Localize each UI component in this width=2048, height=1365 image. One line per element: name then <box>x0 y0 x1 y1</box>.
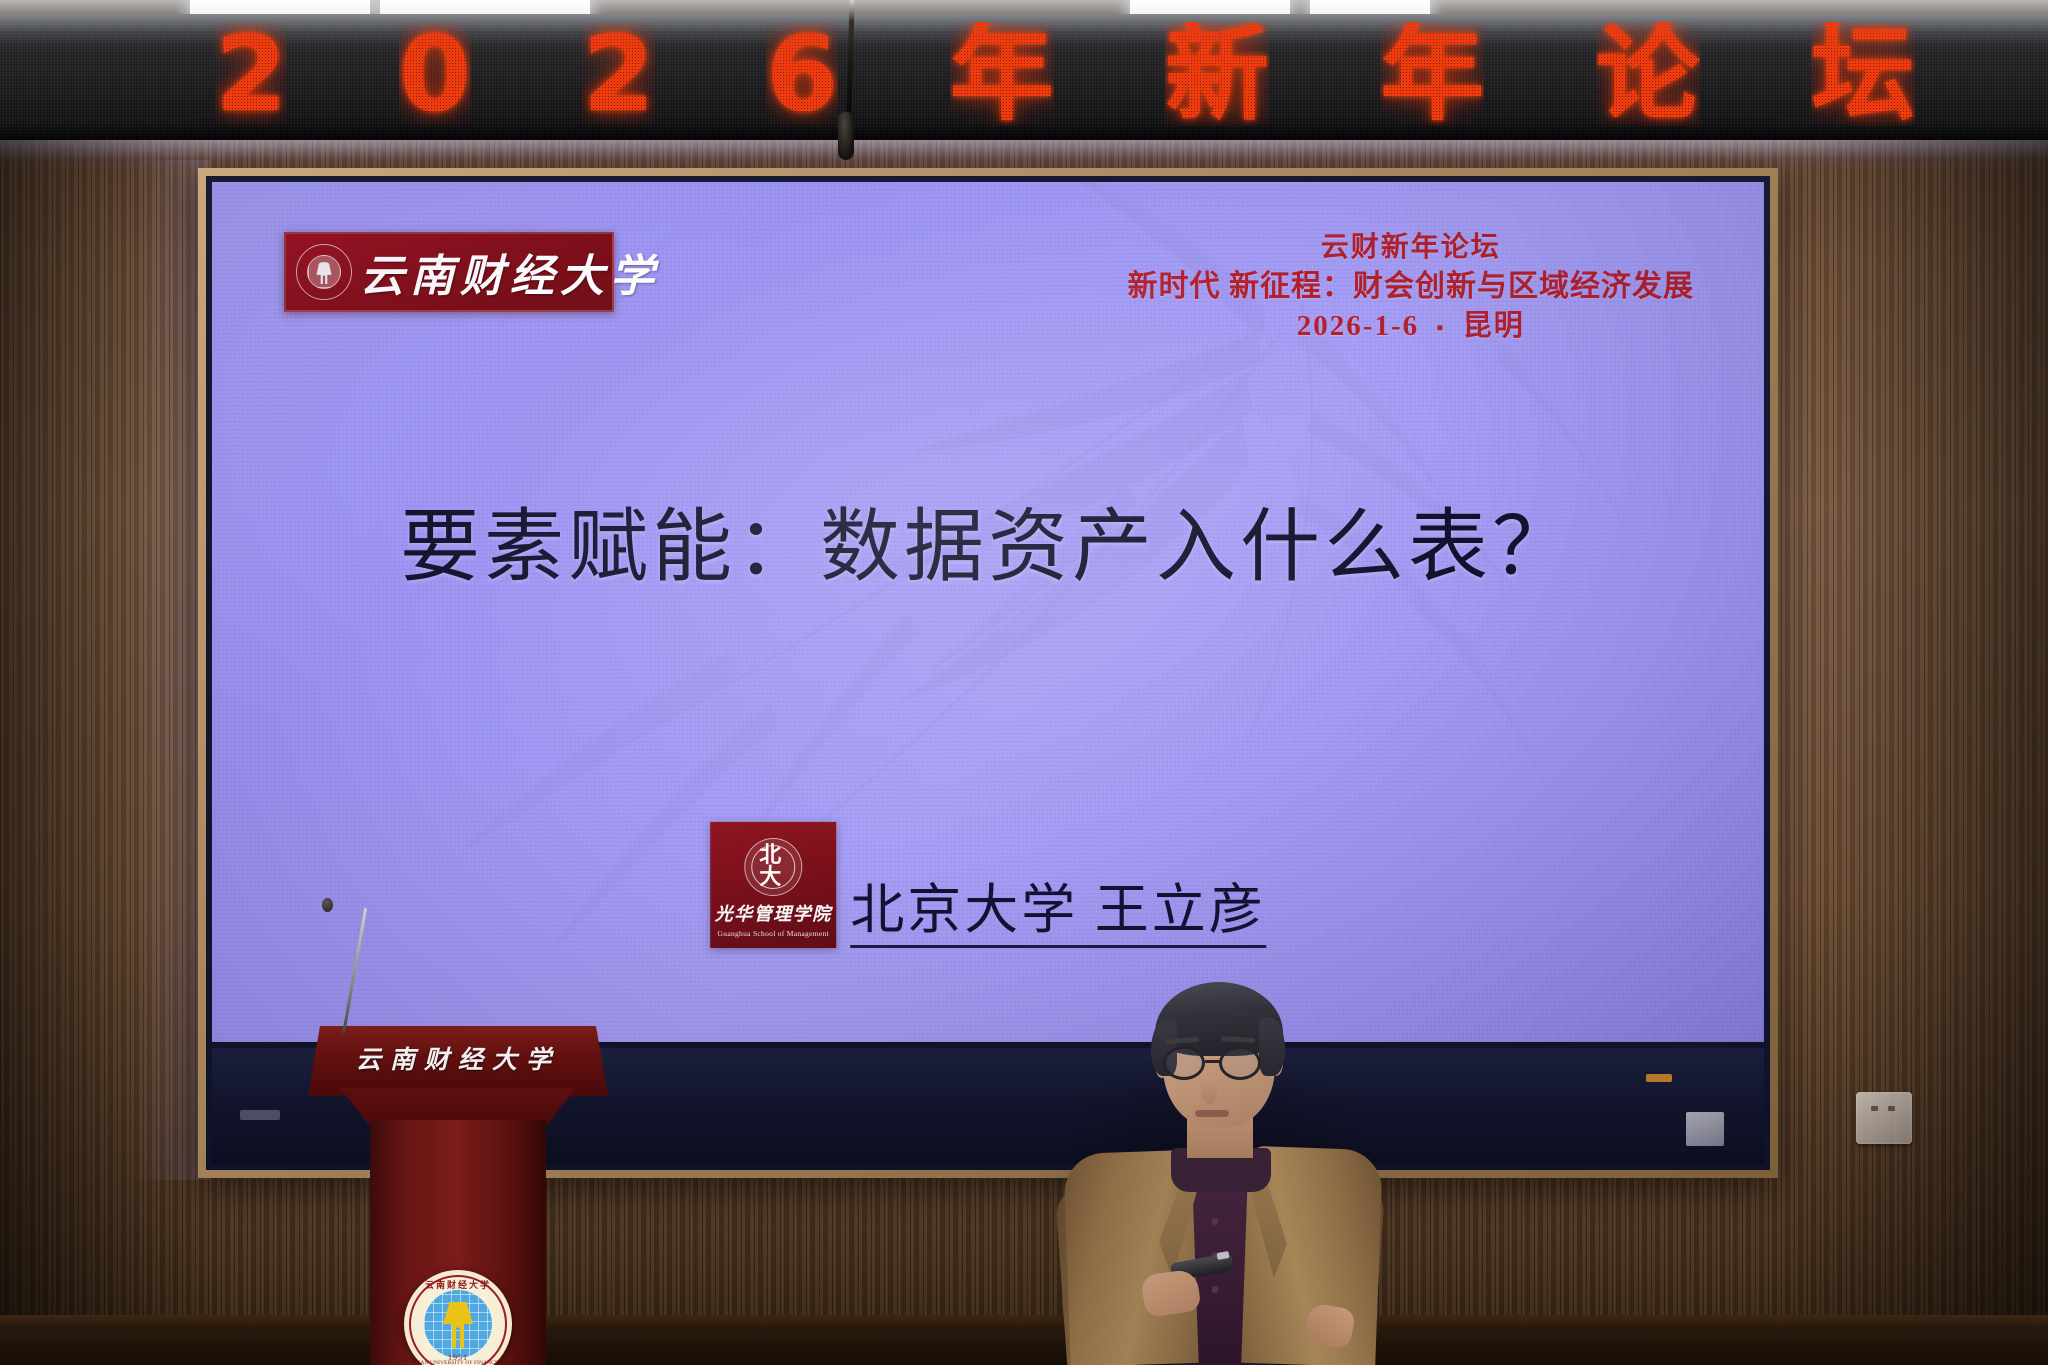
slide-title: 要素赋能：数据资产入什么表？ <box>212 482 1764 598</box>
presenter-row: 北大 光华管理学院 Guanghua School of Management … <box>710 822 1266 948</box>
screen-brand-label <box>240 1110 280 1120</box>
podium-university-name: 云南财经大学 <box>308 1040 608 1076</box>
led-char-8: 坛 <box>1811 22 1915 126</box>
peking-university-seal-icon: 北大 <box>744 838 802 896</box>
university-seal-glyph <box>317 262 332 284</box>
speaker-lens-right <box>1219 1046 1261 1080</box>
speaker-glasses-icon <box>1159 1046 1281 1080</box>
presentation-slide[interactable]: 云南财经大学 云财新年论坛 新时代 新征程：财会创新与区域经济发展 2026-1… <box>212 182 1764 1042</box>
led-banner-text: 2 0 2 6 年 新 年 论 坛 <box>215 22 1915 126</box>
podium-emblem-en-text: YUNNAN UNIVERSITY OF FINANCE AND ECONOMI… <box>404 1360 512 1365</box>
podium-top: 云南财经大学 <box>308 1026 608 1096</box>
podium-microphone-head-icon <box>322 898 333 912</box>
speaker-shirt-button <box>1212 1286 1219 1293</box>
event-city: 昆明 <box>1463 310 1525 342</box>
screen-indicator-icon <box>1646 1074 1672 1082</box>
speaker-nose <box>1201 1080 1217 1104</box>
speaker-glasses-bridge <box>1205 1060 1221 1063</box>
presenter-name: 北京大学 王立彦 <box>850 882 1266 948</box>
event-header: 云财新年论坛 新时代 新征程：财会创新与区域经济发展 2026-1-6 ▪ 昆明 <box>1128 230 1695 345</box>
podium-emblem-cn-text: 云南财经大学 <box>404 1278 512 1291</box>
speaker-hand-left <box>1140 1268 1201 1317</box>
event-date-location: 2026-1-6 ▪ 昆明 <box>1128 307 1695 345</box>
led-char-2: 2 <box>582 22 654 126</box>
screen-control-panel[interactable] <box>1686 1112 1724 1146</box>
university-logo-banner: 云南财经大学 <box>284 232 614 312</box>
led-char-7: 论 <box>1596 22 1700 126</box>
speaker-person <box>1045 990 1385 1365</box>
wall-shadow-left <box>0 140 230 1365</box>
speaker-lens-left <box>1163 1046 1205 1080</box>
university-logo-text: 云南财经大学 <box>360 240 660 304</box>
led-char-5: 新 <box>1165 22 1269 126</box>
led-banner-shadow <box>0 122 2048 142</box>
lecture-hall-scene: 2 0 2 6 年 新 年 论 坛 <box>0 0 2048 1365</box>
pku-seal-glyph: 北大 <box>759 845 787 889</box>
guanghua-school-logo: 北大 光华管理学院 Guanghua School of Management <box>710 822 836 948</box>
speaker-mouth <box>1195 1110 1229 1117</box>
event-separator-icon: ▪ <box>1428 317 1453 339</box>
led-char-1: 0 <box>399 22 471 126</box>
speaker-shirt-button <box>1212 1218 1219 1225</box>
wall-shadow-right <box>1748 140 2048 1365</box>
led-char-0: 2 <box>215 22 287 126</box>
university-seal-icon <box>296 244 352 300</box>
podium: 云南财经大学 云南财经大学 1951 YUNNAN UNIVERSITY OF … <box>308 1026 608 1365</box>
led-char-6: 年 <box>1380 22 1484 126</box>
event-theme: 新时代 新征程：财会创新与区域经济发展 <box>1128 267 1695 307</box>
led-char-4: 年 <box>950 22 1054 126</box>
guanghua-logo-cn: 光华管理学院 <box>715 900 832 926</box>
guanghua-logo-en: Guanghua School of Management <box>718 929 829 938</box>
hanging-microphone-head <box>838 112 854 160</box>
podium-body: 云南财经大学 1951 YUNNAN UNIVERSITY OF FINANCE… <box>370 1120 546 1365</box>
podium-neck <box>340 1088 576 1124</box>
event-forum-name: 云财新年论坛 <box>1128 230 1695 267</box>
led-banner: 2 0 2 6 年 新 年 论 坛 <box>0 14 2048 142</box>
slide-content: 云南财经大学 云财新年论坛 新时代 新征程：财会创新与区域经济发展 2026-1… <box>212 182 1764 1042</box>
podium-emblem-icon: 云南财经大学 1951 YUNNAN UNIVERSITY OF FINANCE… <box>404 1270 512 1365</box>
event-date: 2026-1-6 <box>1297 310 1419 342</box>
wall-socket-plate[interactable] <box>1856 1092 1912 1144</box>
led-char-3: 6 <box>766 22 838 126</box>
projection-screen-bezel: 云南财经大学 云财新年论坛 新时代 新征程：财会创新与区域经济发展 2026-1… <box>206 176 1770 1170</box>
